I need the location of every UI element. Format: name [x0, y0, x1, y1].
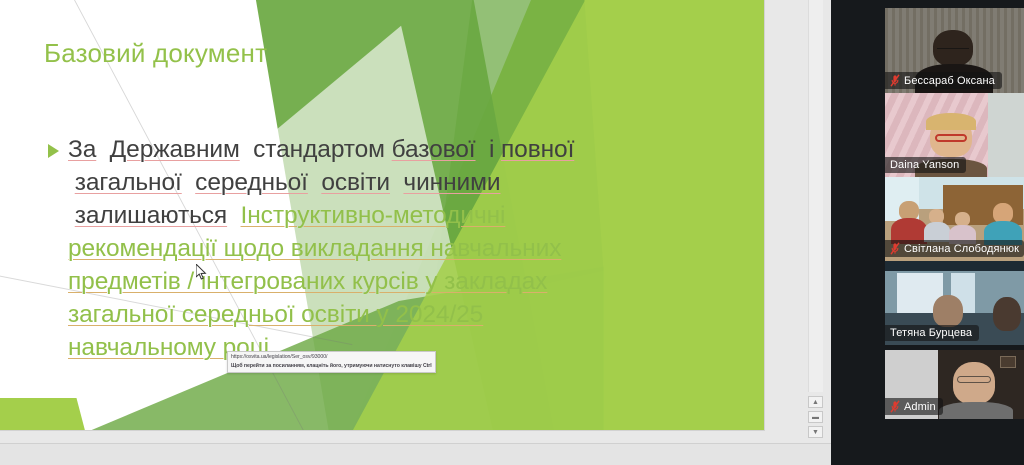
text-run: стандартом — [246, 136, 391, 163]
powerpoint-status-bar: Слайд 3 з 24 Українська Нотатки Примітки… — [0, 443, 831, 465]
slide-title[interactable]: Базовий документ — [44, 38, 267, 69]
text-run: середньої — [195, 169, 308, 196]
shared-screen-pane: Базовий документ За Державним стандартом… — [0, 0, 831, 465]
nameplate: Daina Yanson — [885, 157, 966, 173]
decor-bottom-left-green — [0, 398, 88, 430]
glasses-detail — [957, 376, 991, 383]
bullet-text[interactable]: За Державним стандартом базової і повної… — [68, 133, 586, 364]
text-run — [68, 202, 75, 229]
bullet-paragraph[interactable]: За Державним стандартом базової і повної… — [46, 133, 586, 364]
previous-slide-button[interactable]: ▲ — [808, 396, 823, 408]
mic-muted-icon — [890, 74, 900, 87]
participant-filmstrip: Бессараб Оксана Daina Yanson — [831, 0, 1024, 465]
participant-name: Daina Yanson — [890, 159, 959, 171]
avatar — [993, 203, 1013, 223]
avatar — [993, 297, 1021, 331]
avatar — [955, 212, 970, 226]
slide-navigation-buttons[interactable]: ▲ ▬ ▼ — [808, 396, 823, 438]
participant-name: Світлана Слободянюк — [904, 243, 1019, 255]
next-slide-button[interactable]: ▼ — [808, 426, 823, 438]
text-run — [234, 202, 241, 229]
text-run: і — [482, 136, 501, 163]
powerpoint-window: Базовий документ За Державним стандартом… — [0, 0, 831, 443]
text-run: Державним — [110, 136, 240, 163]
screen-share-session: Базовий документ За Державним стандартом… — [0, 0, 1024, 465]
participant-name: Admin — [904, 401, 936, 413]
slide-scrollbar-track[interactable] — [808, 0, 823, 392]
text-run: повної — [501, 136, 574, 163]
picture-frame-detail — [1000, 356, 1016, 368]
nameplate: Бессараб Оксана — [885, 72, 1002, 89]
text-run: загальної — [75, 169, 182, 196]
avatar — [933, 295, 963, 327]
text-run: За — [68, 136, 96, 163]
tooltip-url: https://osvita.ua/legislation/Ser_osv/93… — [231, 353, 432, 361]
participant-tile[interactable]: Admin — [885, 350, 1024, 419]
participant-name: Тетяна Бурцева — [890, 327, 972, 339]
text-run: чинними — [403, 169, 500, 196]
text-run — [103, 136, 110, 163]
text-run: освіти — [321, 169, 390, 196]
participant-name: Бессараб Оксана — [904, 75, 995, 87]
window-detail — [988, 93, 1024, 177]
hair-detail — [926, 113, 976, 130]
glasses-detail — [937, 48, 969, 52]
mic-muted-icon — [890, 242, 900, 255]
triangle-bullet-icon — [48, 144, 59, 158]
hyperlink-tooltip: https://osvita.ua/legislation/Ser_osv/93… — [227, 351, 436, 373]
text-run: залишаються — [75, 202, 227, 229]
avatar — [929, 209, 944, 223]
slide-canvas[interactable]: Базовий документ За Державним стандартом… — [0, 0, 764, 430]
tooltip-hint: Щоб перейти за посиланням, клацніть його… — [231, 362, 432, 370]
participant-tile[interactable]: Daina Yanson — [885, 93, 1024, 177]
avatar — [953, 362, 995, 404]
mic-muted-icon — [890, 400, 900, 413]
nameplate: Тетяна Бурцева — [885, 325, 979, 341]
nameplate: Світлана Слободянюк — [885, 240, 1024, 257]
participant-tile[interactable]: Бессараб Оксана — [885, 8, 1024, 93]
text-run: базової — [392, 136, 476, 163]
participant-tile[interactable]: Світлана Слободянюк — [885, 177, 1024, 261]
text-run — [68, 169, 75, 196]
glasses-detail — [935, 134, 967, 142]
avatar-body — [939, 402, 1013, 419]
participant-tile-active[interactable]: Тетяна Бурцева — [885, 261, 1024, 345]
slide-body-placeholder[interactable]: За Державним стандартом базової і повної… — [46, 133, 586, 364]
nameplate: Admin — [885, 398, 943, 415]
mouse-cursor-icon — [196, 264, 207, 280]
section-marker-button[interactable]: ▬ — [808, 411, 823, 423]
avatar-body — [924, 222, 950, 242]
